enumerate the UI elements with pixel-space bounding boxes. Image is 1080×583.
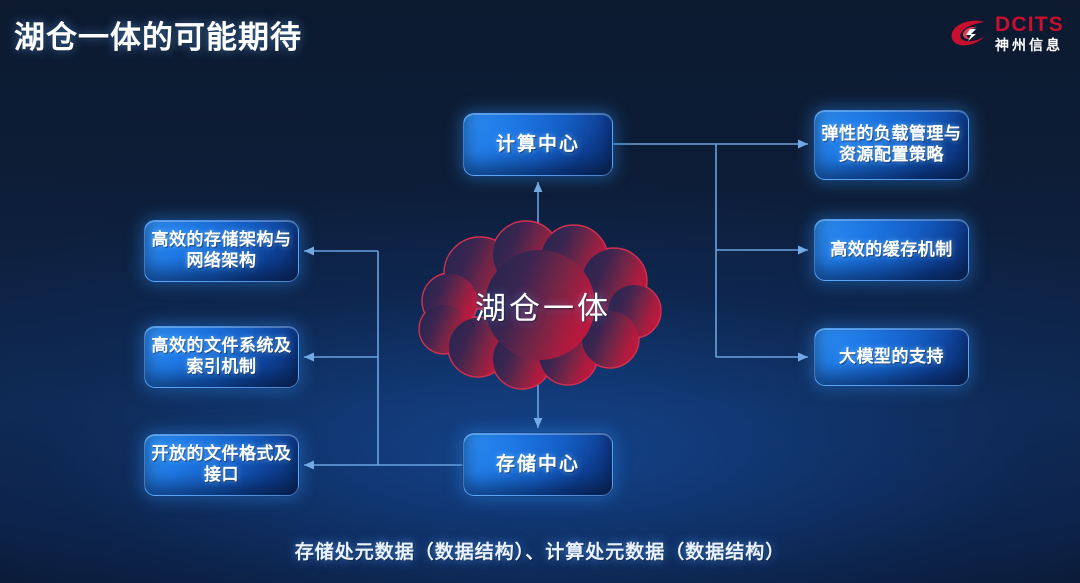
lakehouse-cloud: 湖仓一体 [408,215,678,395]
logo-english-text: DCITS [995,14,1064,35]
logo-chinese-text: 神州信息 [995,38,1063,52]
node-storage-architecture[interactable]: 高效的存储架构与网络架构 [144,220,299,282]
cloud-shape-icon [408,215,678,395]
node-file-system-index[interactable]: 高效的文件系统及索引机制 [144,326,299,388]
dcits-swoosh-icon [948,17,990,49]
slide-canvas: 湖仓一体的可能期待 DCITS 神州信息 [0,0,1080,583]
brand-logo: DCITS 神州信息 [948,10,1064,56]
page-title: 湖仓一体的可能期待 [14,12,302,57]
node-storage-center[interactable]: 存储中心 [463,433,613,496]
node-open-file-format[interactable]: 开放的文件格式及接口 [144,434,299,496]
node-elastic-workload[interactable]: 弹性的负载管理与资源配置策略 [814,110,969,180]
logo-wordmark: DCITS 神州信息 [995,14,1064,52]
node-large-model-support[interactable]: 大模型的支持 [814,328,969,386]
node-cache-mechanism[interactable]: 高效的缓存机制 [814,219,969,281]
slide-caption: 存储处元数据（数据结构）、计算处元数据（数据结构） [0,537,1080,564]
node-compute-center[interactable]: 计算中心 [463,113,613,176]
